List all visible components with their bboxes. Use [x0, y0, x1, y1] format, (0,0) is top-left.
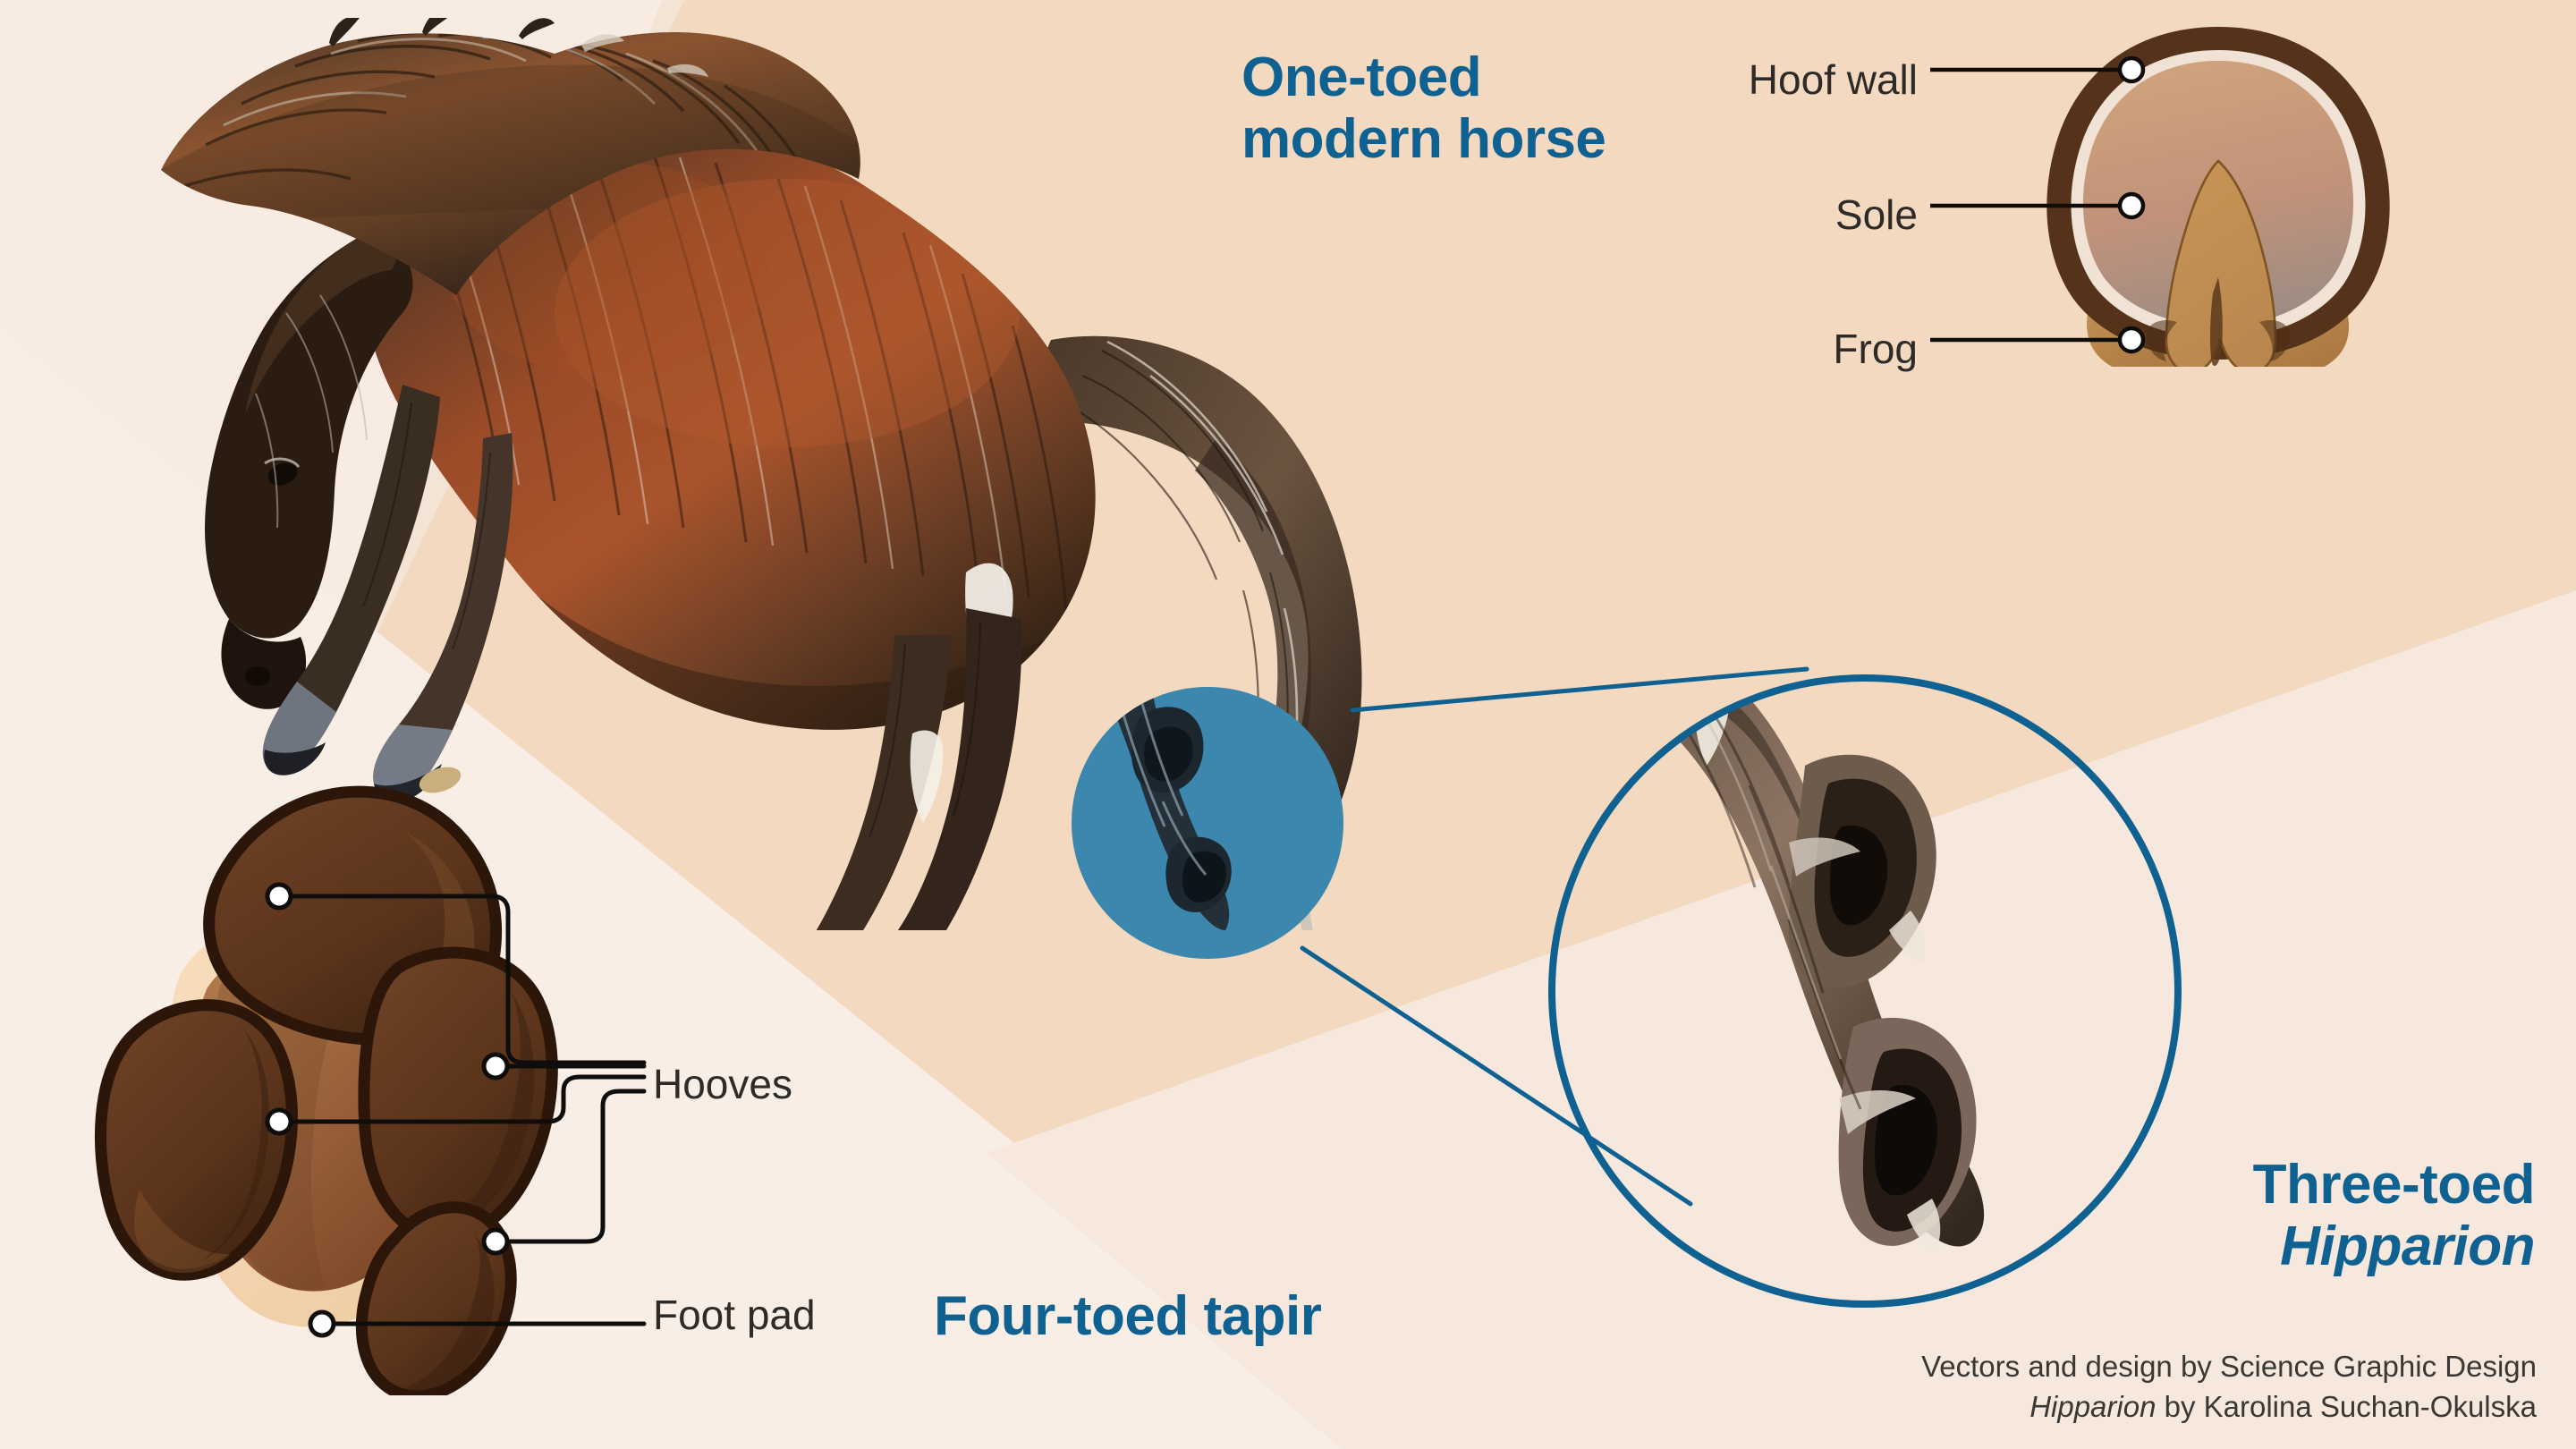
title-one-toed-modern-horse: One-toed modern horse [1241, 47, 1742, 171]
hipparion-foot-magnified [1521, 651, 2200, 1331]
title-three-toed-hipparion: Three-toed Hipparion [2253, 1154, 2535, 1278]
title-three-toed-line2: Hipparion [2253, 1216, 2535, 1277]
leader-tapir-hoof-top [283, 896, 644, 1063]
tapir-leader-lines [107, 787, 680, 1377]
dot-tapir-hoof-top [267, 885, 291, 908]
dot-tapir-foot-pad [310, 1312, 334, 1335]
dot-hoof-wall [2120, 58, 2143, 81]
credit-block: Vectors and design by Science Graphic De… [1921, 1346, 2537, 1428]
title-one-toed-line1: One-toed [1241, 47, 1742, 108]
dot-sole [2120, 194, 2143, 217]
credit-line-2: Hipparion by Karolina Suchan-Okulska [1921, 1386, 2537, 1428]
label-frog: Frog [1676, 325, 1918, 373]
title-four-toed-tapir: Four-toed tapir [934, 1285, 1321, 1347]
label-foot-pad: Foot pad [653, 1291, 816, 1339]
label-hoof-wall: Hoof wall [1676, 55, 1918, 104]
dot-tapir-hoof-left [267, 1110, 291, 1133]
hipparion-foot-drawing [1621, 659, 1984, 1252]
label-hooves: Hooves [653, 1060, 792, 1108]
dot-frog [2120, 328, 2143, 352]
infographic-canvas: One-toed modern horse Four-toed tapir Th… [0, 0, 2576, 1449]
credit-author: by Karolina Suchan-Okulska [2156, 1390, 2537, 1423]
leader-tapir-hoof-left [283, 1077, 644, 1122]
title-one-toed-line2: modern horse [1241, 108, 1742, 170]
leader-tapir-hoof-bottom [492, 1091, 644, 1241]
label-sole: Sole [1676, 191, 1918, 239]
credit-species-name: Hipparion [2029, 1390, 2156, 1423]
credit-line-1: Vectors and design by Science Graphic De… [1921, 1346, 2537, 1387]
title-three-toed-line1: Three-toed [2253, 1154, 2535, 1216]
dot-tapir-hoof-right [484, 1055, 507, 1078]
dot-tapir-hoof-bottom [484, 1230, 507, 1253]
